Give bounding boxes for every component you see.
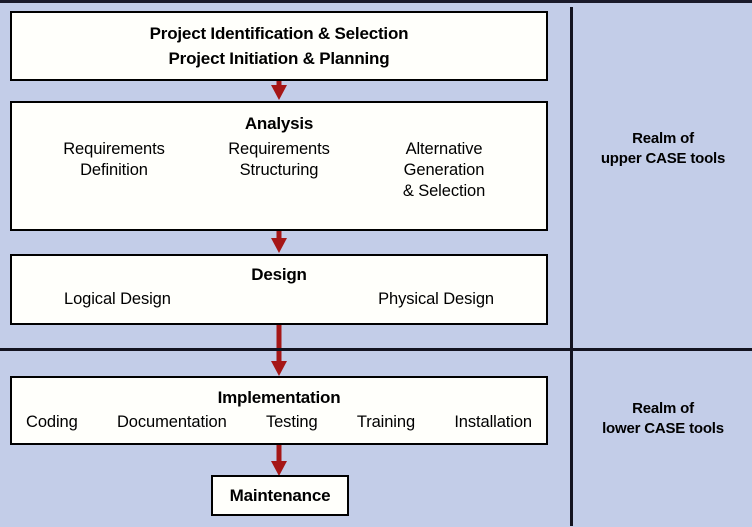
realm-label-lower: Realm of lower CASE tools <box>574 399 752 439</box>
implementation-column-training: Training <box>357 412 415 433</box>
analysis-col-1-line-1: Requirements <box>199 139 359 160</box>
stage-box-implementation[interactable]: Implementation Coding Documentation Test… <box>10 376 548 445</box>
analysis-columns: Requirements Definition Requirements Str… <box>12 135 546 202</box>
realm-lower-line-2: lower CASE tools <box>574 419 752 439</box>
design-title: Design <box>12 264 546 286</box>
analysis-col-2-line-2: Generation <box>364 160 524 181</box>
analysis-column-requirements-definition: Requirements Definition <box>34 139 194 202</box>
arrow-design-to-implementation <box>268 325 290 382</box>
identification-line-1: Project Identification & Selection <box>150 21 409 46</box>
realm-lower-line-1: Realm of <box>574 399 752 419</box>
maintenance-title: Maintenance <box>230 485 331 507</box>
analysis-title: Analysis <box>12 113 546 135</box>
realm-upper-line-1: Realm of <box>574 129 752 149</box>
implementation-columns: Coding Documentation Testing Training In… <box>12 409 546 433</box>
identification-line-2: Project Initiation & Planning <box>169 46 390 71</box>
stage-box-analysis[interactable]: Analysis Requirements Definition Require… <box>10 101 548 231</box>
analysis-col-2-line-1: Alternative <box>364 139 524 160</box>
analysis-col-2-line-3: & Selection <box>364 181 524 202</box>
stage-box-design[interactable]: Design Logical Design Physical Design <box>10 254 548 325</box>
analysis-column-requirements-structuring: Requirements Structuring <box>199 139 359 202</box>
design-columns: Logical Design Physical Design <box>12 286 546 310</box>
implementation-column-documentation: Documentation <box>117 412 227 433</box>
design-column-logical: Logical Design <box>64 289 171 310</box>
realm-label-upper: Realm of upper CASE tools <box>574 129 752 169</box>
implementation-column-coding: Coding <box>26 412 78 433</box>
implementation-column-installation: Installation <box>454 412 532 433</box>
divider-horizontal <box>0 348 752 351</box>
analysis-column-alternative-generation: Alternative Generation & Selection <box>364 139 524 202</box>
analysis-col-0-line-1: Requirements <box>34 139 194 160</box>
sdlc-case-tools-diagram: Project Identification & Selection Proje… <box>0 0 752 527</box>
stage-box-identification[interactable]: Project Identification & Selection Proje… <box>10 11 548 81</box>
implementation-column-testing: Testing <box>266 412 318 433</box>
design-column-physical: Physical Design <box>378 289 494 310</box>
implementation-title: Implementation <box>12 387 546 409</box>
analysis-col-0-line-2: Definition <box>34 160 194 181</box>
divider-vertical <box>570 7 573 526</box>
realm-upper-line-2: upper CASE tools <box>574 149 752 169</box>
analysis-col-1-line-2: Structuring <box>199 160 359 181</box>
stage-box-maintenance[interactable]: Maintenance <box>211 475 349 516</box>
